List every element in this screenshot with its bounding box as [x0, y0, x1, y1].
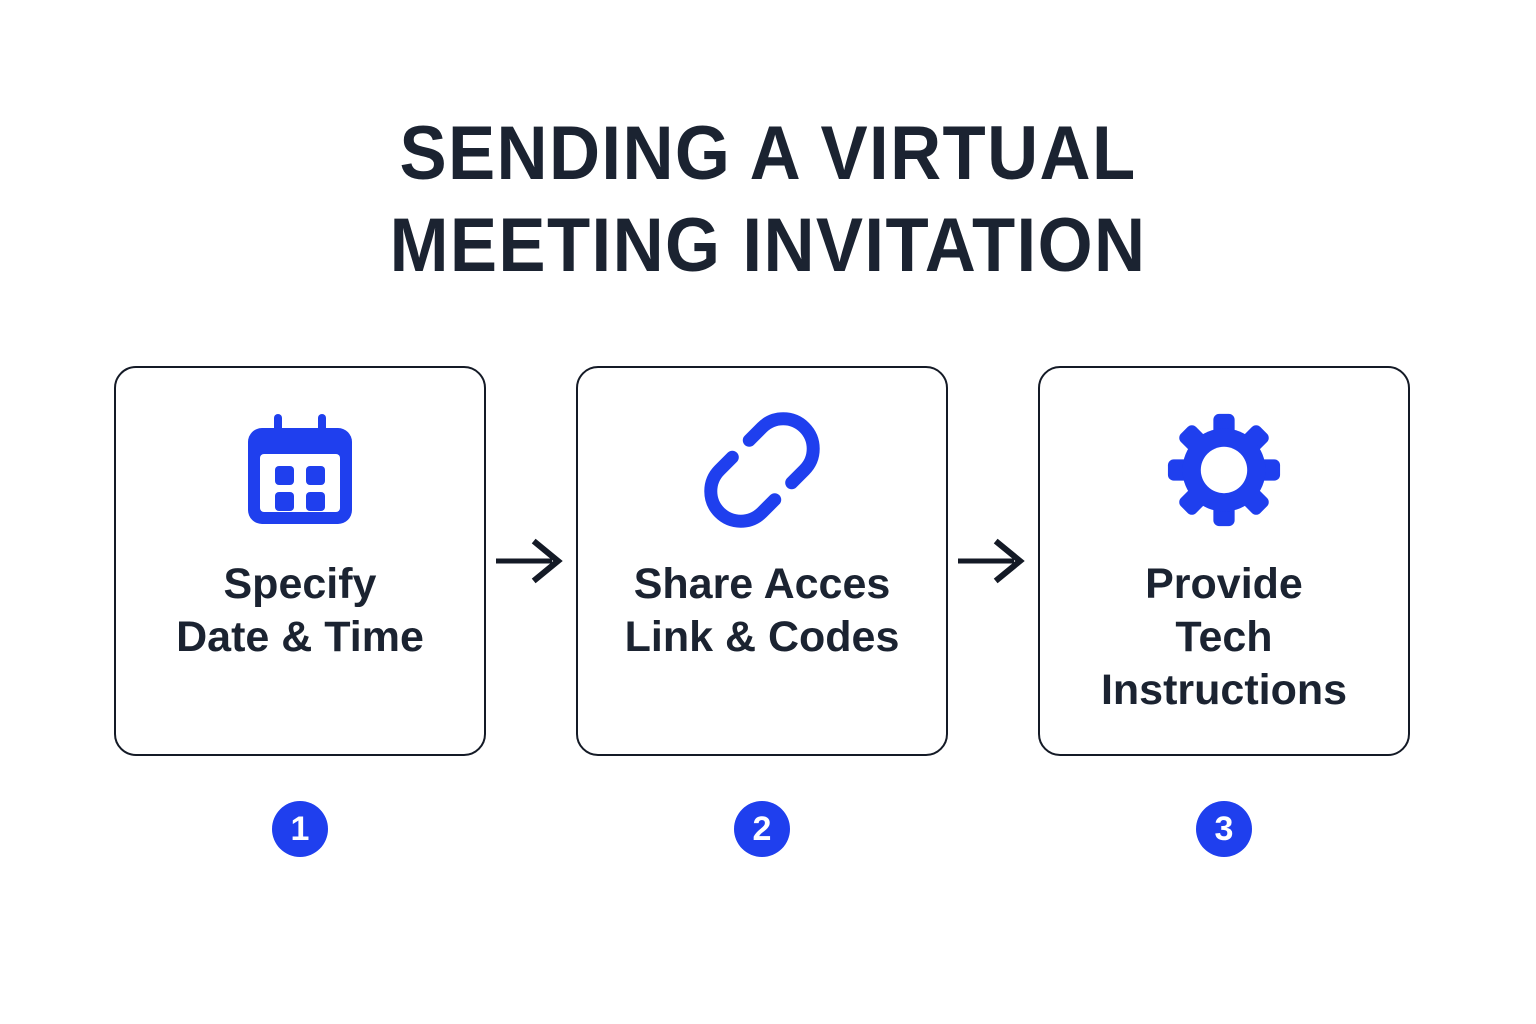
- infographic-canvas: SENDING A VIRTUAL MEETING INVITATION: [0, 0, 1536, 1024]
- step-number-badge-2: 2: [734, 801, 790, 857]
- gear-icon: [1160, 406, 1288, 534]
- step-card-2[interactable]: Share Acces Link & Codes: [576, 366, 948, 756]
- arrow-right-icon-2: [949, 366, 1037, 756]
- step-label-2: Share Acces Link & Codes: [611, 558, 914, 664]
- step-number-badge-3: 3: [1196, 801, 1252, 857]
- steps-row: Specify Date & Time 1: [114, 366, 1410, 886]
- page-title-line-1: SENDING A VIRTUAL: [54, 108, 1482, 200]
- arrow-right-icon-1: [487, 366, 575, 756]
- page-title-line-2: MEETING INVITATION: [54, 200, 1482, 292]
- step-label-1: Specify Date & Time: [162, 558, 438, 664]
- calendar-icon: [236, 406, 364, 534]
- step-number-badge-1: 1: [272, 801, 328, 857]
- step-card-3[interactable]: Provide Tech Instructions: [1038, 366, 1410, 756]
- link-chain-icon: [698, 406, 826, 534]
- step-3: Provide Tech Instructions 3: [1038, 366, 1410, 857]
- step-1: Specify Date & Time 1: [114, 366, 486, 857]
- step-label-3: Provide Tech Instructions: [1087, 558, 1361, 717]
- step-2: Share Acces Link & Codes 2: [576, 366, 948, 857]
- page-title: SENDING A VIRTUAL MEETING INVITATION: [0, 108, 1536, 292]
- step-card-1[interactable]: Specify Date & Time: [114, 366, 486, 756]
